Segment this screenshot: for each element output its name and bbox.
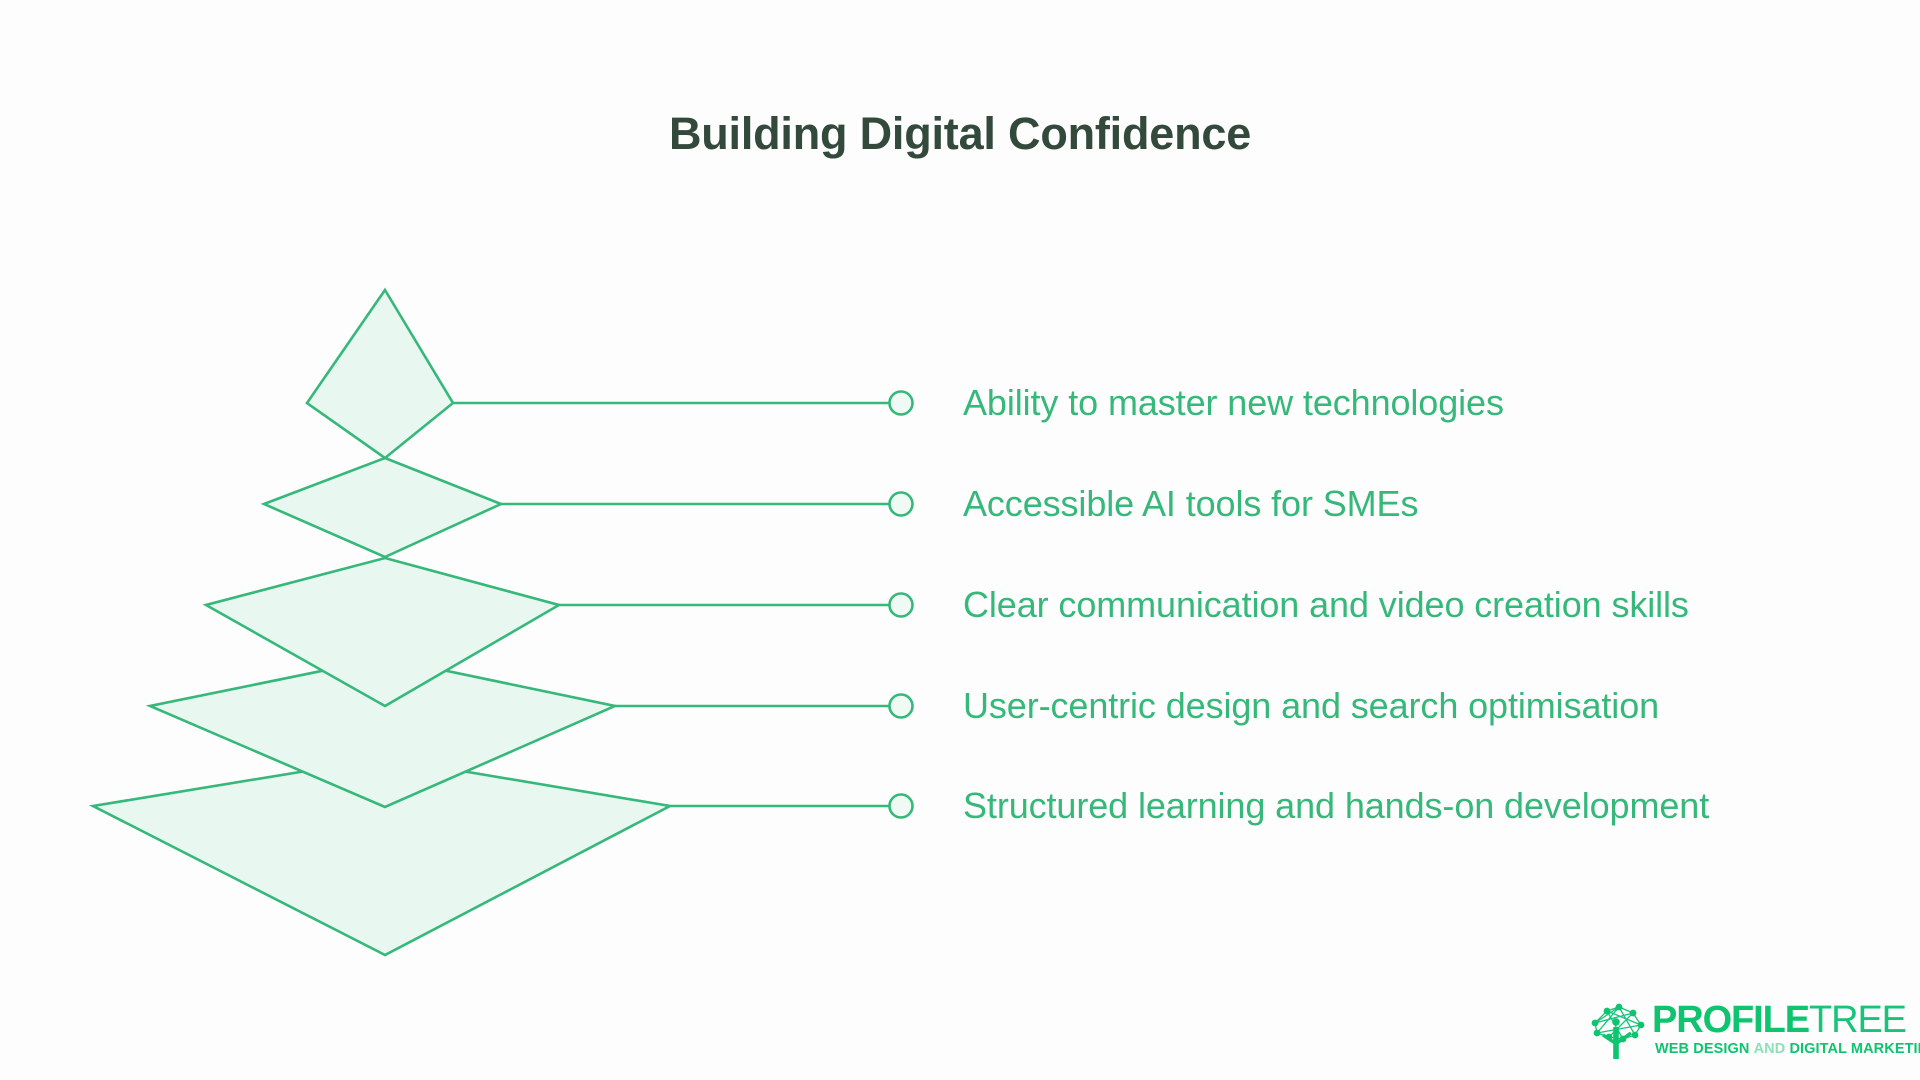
callout-label-2: Accessible AI tools for SMEs — [963, 483, 1418, 525]
logo-word-secondary: TREE — [1809, 999, 1906, 1041]
pyramid-level-2[interactable] — [264, 458, 501, 557]
logo-tagline-part-1: WEB DESIGN — [1655, 1041, 1749, 1057]
callout-label-5: Structured learning and hands-on develop… — [963, 785, 1709, 827]
logo-tagline: WEB DESIGN AND DIGITAL MARKETING — [1655, 1042, 1920, 1057]
circle-node-icon-3[interactable] — [890, 594, 913, 617]
callout-label-1: Ability to master new technologies — [963, 382, 1504, 424]
logo-word-primary: PROFILE — [1652, 999, 1809, 1041]
pyramid-diagram — [0, 0, 1920, 1080]
callout-label-3: Clear communication and video creation s… — [963, 584, 1689, 626]
circle-node-icon-2[interactable] — [890, 493, 913, 516]
circle-node-icon-5[interactable] — [890, 795, 913, 818]
profiletree-logo[interactable]: PROFILETREE WEB DESIGN AND DIGITAL MARKE… — [1585, 1000, 1905, 1062]
pyramid-level-1[interactable] — [307, 290, 453, 458]
logo-tagline-part-3: DIGITAL MARKETING — [1789, 1041, 1920, 1057]
circle-node-icon-4[interactable] — [890, 695, 913, 718]
logo-tagline-part-2: AND — [1754, 1041, 1786, 1057]
slide-canvas: Building Digital Confidence — [0, 0, 1920, 1080]
logo-wordmark: PROFILETREE — [1652, 1000, 1906, 1040]
circle-node-icon-1[interactable] — [890, 392, 913, 415]
callout-markers — [890, 392, 913, 818]
network-tree-icon — [1585, 1001, 1649, 1061]
callout-label-4: User-centric design and search optimisat… — [963, 685, 1659, 727]
